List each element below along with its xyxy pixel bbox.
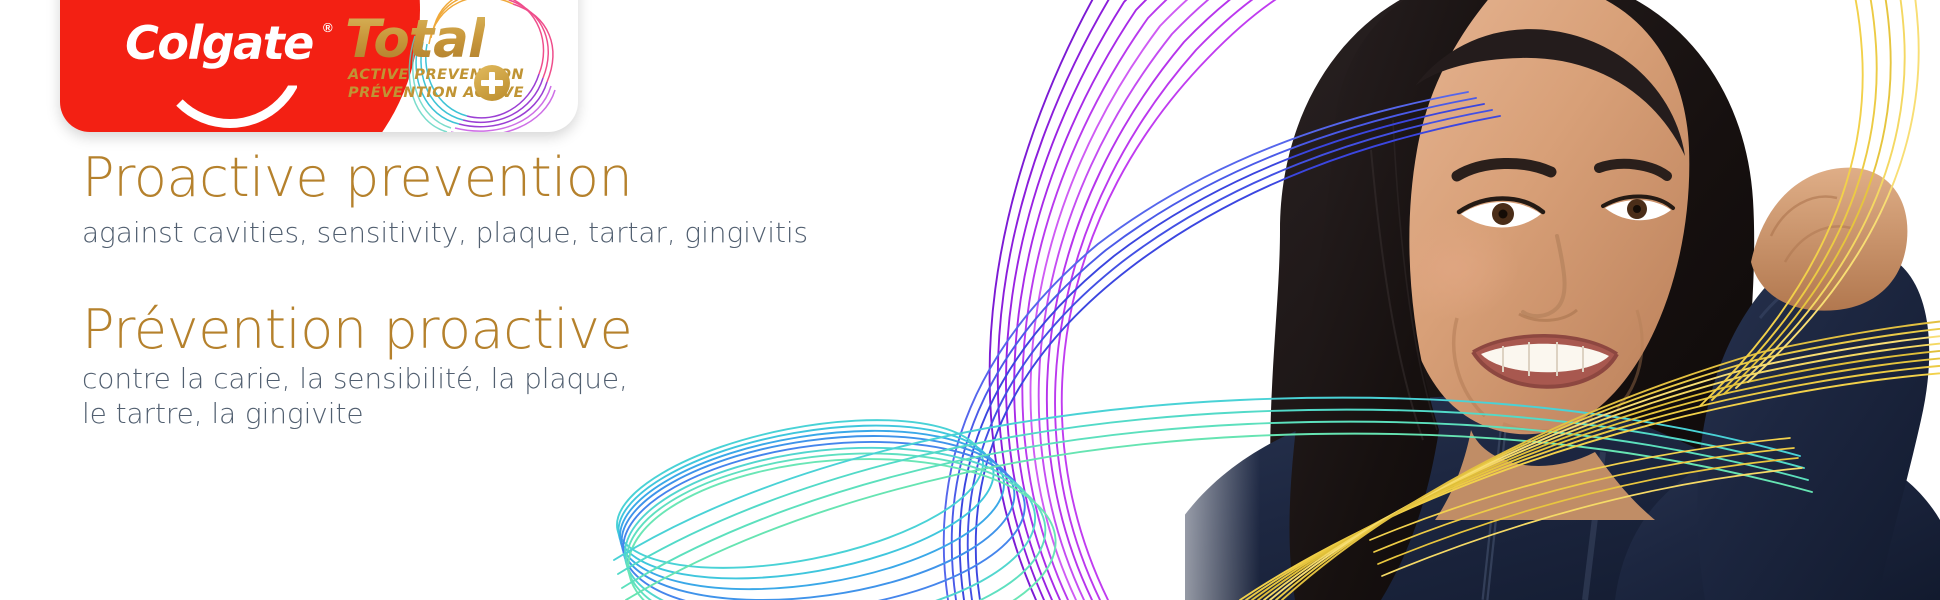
total-wordmark: Total [345, 13, 485, 66]
headline-english: Proactive prevention [82, 150, 808, 206]
copy-block-english: Proactive prevention against cavities, s… [82, 150, 808, 250]
copy-block-french: Prévention proactive contre la carie, la… [82, 302, 808, 430]
headline-french: Prévention proactive [82, 302, 808, 358]
subline-french-line1: contre la carie, la sensibilité, la plaq… [82, 362, 808, 396]
model-photo-svg [1185, 0, 1940, 600]
colgate-total-banner: Colgate ® Total ACTIVE PREVENTION PRÉVEN… [0, 0, 1940, 600]
total-product-badge: Total ACTIVE PREVENTION PRÉVENTION ACTIV… [345, 10, 565, 120]
model-photo [1185, 0, 1940, 600]
subline-english: against cavities, sensitivity, plaque, t… [82, 216, 808, 250]
colgate-logo-card[interactable]: Colgate ® Total ACTIVE PREVENTION PRÉVEN… [60, 0, 578, 132]
subline-french-line2: le tartre, la gingivite [82, 397, 808, 431]
registered-trademark-icon: ® [323, 20, 333, 35]
plus-icon [474, 65, 510, 101]
banner-copy: Proactive prevention against cavities, s… [82, 150, 808, 431]
